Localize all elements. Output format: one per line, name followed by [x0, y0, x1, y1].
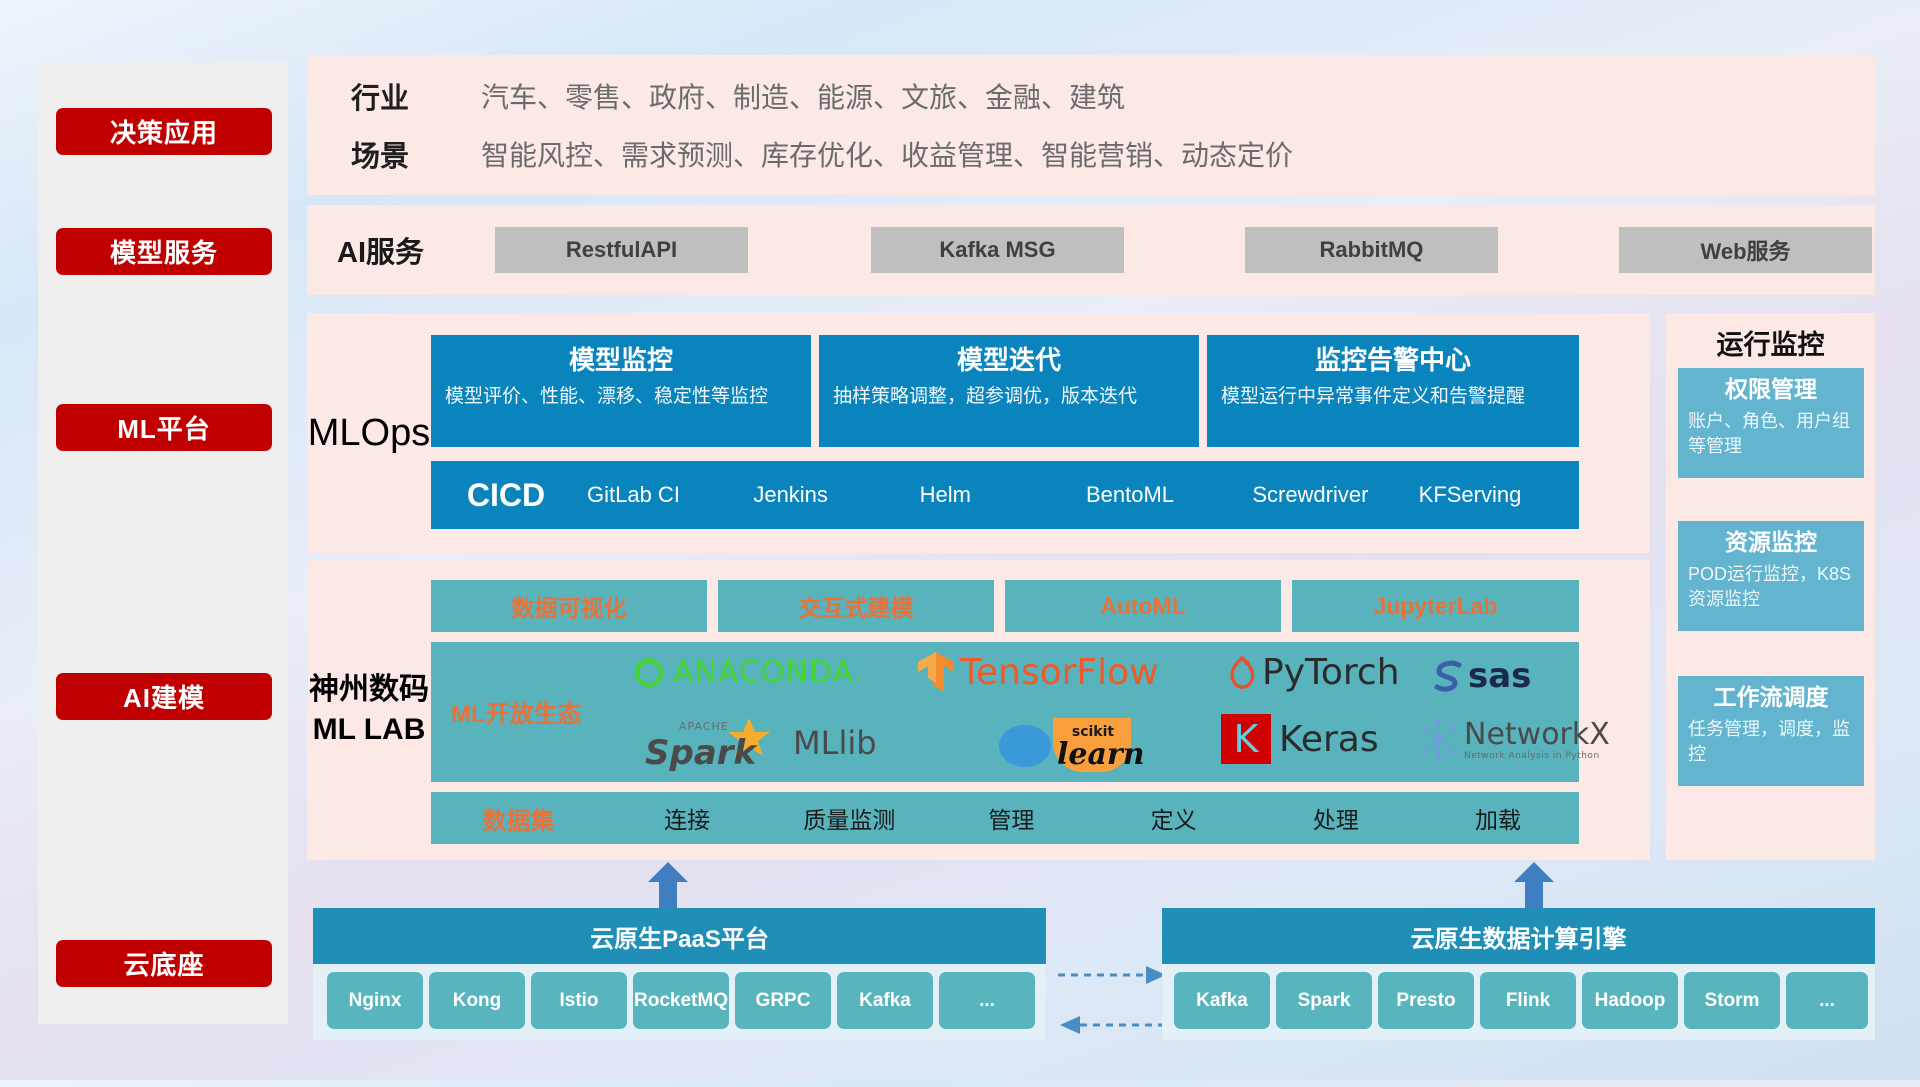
engine-chip-kafka[interactable]: Kafka	[1174, 972, 1270, 1029]
cicd-item-kfserving[interactable]: KFServing	[1413, 480, 1579, 510]
monitor-card-title: 权限管理	[1688, 374, 1854, 405]
networkx-wordmark: NetworkX	[1464, 719, 1610, 751]
cicd-item-bentoml[interactable]: BentoML	[1080, 480, 1246, 510]
ecosystem-title: ML开放生态	[451, 694, 582, 729]
application-row-key: 行业	[351, 75, 481, 117]
tensorflow-mark	[916, 650, 956, 694]
rail-item-model-service[interactable]: 模型服务	[56, 228, 272, 275]
engine-chip-spark[interactable]: Spark	[1276, 972, 1372, 1029]
ai-service-label: AI服务	[337, 205, 424, 295]
spacer	[1060, 1084, 1061, 1085]
rail-label: ML平台	[117, 409, 211, 446]
cicd-item-gitlab-ci[interactable]: GitLab CI	[581, 480, 747, 510]
pytorch-logo: PyTorch	[1226, 652, 1400, 693]
networkx-mark	[1416, 718, 1460, 762]
diagram-canvas: 决策应用 模型服务 ML平台 AI建模 云底座 行业 汽车、零售、政府、制造、能…	[0, 0, 1920, 1080]
rail-item-decision-application[interactable]: 决策应用	[56, 108, 272, 155]
cicd-item-jenkins[interactable]: Jenkins	[747, 480, 913, 510]
monitor-card-desc: POD运行监控，K8S资源监控	[1688, 562, 1854, 612]
monitor-card-desc: 账户、角色、用户组等管理	[1688, 409, 1854, 459]
mlops-card-desc: 模型评价、性能、漂移、稳定性等监控	[445, 383, 797, 410]
keras-wordmark: Keras	[1279, 719, 1379, 760]
tool-chip-automl[interactable]: AutoML	[1005, 580, 1281, 632]
engine-chip-presto[interactable]: Presto	[1378, 972, 1474, 1029]
ml-lab-label-line1: 神州数码	[309, 670, 429, 710]
mlops-card-model-iteration[interactable]: 模型迭代 抽样策略调整，超参调优，版本迭代	[819, 335, 1199, 447]
sas-wordmark: sas	[1468, 656, 1531, 696]
application-row-industry: 行业 汽车、零售、政府、制造、能源、文旅、金融、建筑	[351, 75, 1125, 117]
application-row-value: 智能风控、需求预测、库存优化、收益管理、智能营销、动态定价	[481, 134, 1293, 174]
tool-chip-interactive-modeling[interactable]: 交互式建模	[718, 580, 994, 632]
keras-logo: K Keras	[1221, 714, 1379, 764]
arrow-right-icon	[1058, 960, 1168, 990]
monitor-card-resource[interactable]: 资源监控 POD运行监控，K8S资源监控	[1678, 521, 1864, 631]
runtime-monitor-panel: 运行监控 权限管理 账户、角色、用户组等管理 资源监控 POD运行监控，K8S资…	[1666, 313, 1875, 860]
sas-logo: sas	[1431, 656, 1531, 696]
application-row-value: 汽车、零售、政府、制造、能源、文旅、金融、建筑	[481, 76, 1125, 116]
dataset-label: 数据集	[431, 801, 606, 836]
monitor-card-desc: 任务管理，调度，监控	[1688, 717, 1854, 767]
paas-chip-kafka[interactable]: Kafka	[837, 972, 933, 1029]
anaconda-logo: ANACONDA.	[631, 654, 864, 690]
application-band: 行业 汽车、零售、政府、制造、能源、文旅、金融、建筑 场景 智能风控、需求预测、…	[307, 55, 1875, 195]
tool-chip-jupyterlab[interactable]: JupyterLab	[1292, 580, 1579, 632]
ai-service-chip-kafka-msg[interactable]: Kafka MSG	[871, 227, 1124, 273]
ml-lab-label: 神州数码 ML LAB	[307, 560, 431, 860]
sas-mark	[1431, 659, 1467, 693]
rail-label: 模型服务	[110, 233, 218, 270]
rail-item-ai-modeling[interactable]: AI建模	[56, 673, 272, 720]
tensorflow-wordmark: TensorFlow	[960, 652, 1159, 693]
svg-text:APACHE: APACHE	[679, 720, 729, 733]
mlops-card-desc: 抽样策略调整，超参调优，版本迭代	[833, 383, 1185, 410]
scikit-learn-logo: scikit learn	[997, 710, 1157, 772]
rail-label: 云底座	[123, 945, 204, 982]
dataset-item-load[interactable]: 加载	[1417, 801, 1579, 835]
arrow-left-icon	[1058, 1010, 1168, 1040]
mlops-card-title: 监控告警中心	[1221, 343, 1565, 377]
anaconda-wordmark: ANACONDA.	[673, 655, 864, 690]
tensorflow-logo: TensorFlow	[916, 650, 1159, 694]
cicd-label: CICD	[431, 477, 581, 514]
engine-chip-hadoop[interactable]: Hadoop	[1582, 972, 1678, 1029]
dataset-strip: 数据集 连接 质量监测 管理 定义 处理 加载	[431, 792, 1579, 844]
mllib-wordmark: MLlib	[793, 724, 877, 762]
spark-mllib-logo: APACHE Spark MLlib	[641, 714, 877, 772]
dataset-item-manage[interactable]: 管理	[930, 801, 1092, 835]
ai-service-band: AI服务 RestfulAPI Kafka MSG RabbitMQ Web服务	[307, 205, 1875, 295]
ml-lab-label-line2: ML LAB	[309, 710, 429, 750]
paas-chip-nginx[interactable]: Nginx	[327, 972, 423, 1029]
networkx-tagline: Network Analysis in Python	[1464, 751, 1610, 761]
arrow-up-data-engine-icon	[1512, 862, 1556, 910]
paas-platform-header: 云原生PaaS平台	[313, 908, 1046, 964]
ai-service-chip-rabbitmq[interactable]: RabbitMQ	[1245, 227, 1498, 273]
rail-item-cloud-base[interactable]: 云底座	[56, 940, 272, 987]
mlops-card-title: 模型监控	[445, 343, 797, 377]
dataset-item-process[interactable]: 处理	[1255, 801, 1417, 835]
tool-chip-data-visualization[interactable]: 数据可视化	[431, 580, 707, 632]
cicd-strip: CICD GitLab CI Jenkins Helm BentoML Scre…	[431, 461, 1579, 529]
cicd-item-screwdriver[interactable]: Screwdriver	[1246, 480, 1412, 510]
paas-chip-rocketmq[interactable]: RocketMQ	[633, 972, 729, 1029]
rail-item-ml-platform[interactable]: ML平台	[56, 404, 272, 451]
dataset-item-define[interactable]: 定义	[1093, 801, 1255, 835]
mlops-card-title: 模型迭代	[833, 343, 1185, 377]
networkx-logo: NetworkX Network Analysis in Python	[1416, 718, 1610, 762]
paas-chip-istio[interactable]: Istio	[531, 972, 627, 1029]
mlops-card-alert-center[interactable]: 监控告警中心 模型运行中异常事件定义和告警提醒	[1207, 335, 1579, 447]
engine-chip-flink[interactable]: Flink	[1480, 972, 1576, 1029]
monitor-card-workflow[interactable]: 工作流调度 任务管理，调度，监控	[1678, 676, 1864, 786]
rail-label: 决策应用	[110, 113, 218, 150]
data-engine-header: 云原生数据计算引擎	[1162, 908, 1875, 964]
svg-text:learn: learn	[1057, 737, 1145, 772]
engine-chip-storm[interactable]: Storm	[1684, 972, 1780, 1029]
runtime-monitor-title: 运行监控	[1666, 323, 1875, 362]
monitor-card-title: 工作流调度	[1688, 682, 1854, 713]
application-row-scenario: 场景 智能风控、需求预测、库存优化、收益管理、智能营销、动态定价	[351, 133, 1293, 175]
ai-service-chip-web-service[interactable]: Web服务	[1619, 227, 1872, 273]
paas-chip-grpc[interactable]: GRPC	[735, 972, 831, 1029]
keras-mark: K	[1221, 714, 1271, 764]
engine-chip-more[interactable]: ...	[1786, 972, 1868, 1029]
keras-k: K	[1234, 717, 1259, 761]
monitor-card-title: 资源监控	[1688, 527, 1854, 558]
paas-chip-more[interactable]: ...	[939, 972, 1035, 1029]
spark-mark: APACHE Spark	[641, 714, 791, 772]
dataset-item-quality[interactable]: 质量监测	[768, 801, 930, 835]
mlops-label: MLOps	[307, 313, 431, 553]
mlops-band: MLOps 模型监控 模型评价、性能、漂移、稳定性等监控 模型迭代 抽样策略调整…	[307, 313, 1650, 553]
ai-modeling-band: 神州数码 ML LAB 数据可视化 交互式建模 AutoML JupyterLa…	[307, 560, 1650, 860]
pytorch-mark	[1226, 654, 1258, 692]
paas-chip-kong[interactable]: Kong	[429, 972, 525, 1029]
arrow-up-paas-icon	[646, 862, 690, 910]
scikit-mark: scikit learn	[997, 710, 1157, 772]
rail-label: AI建模	[123, 678, 205, 715]
ai-service-chip-restfulapi[interactable]: RestfulAPI	[495, 227, 748, 273]
ecosystem-panel: ML开放生态 ANACONDA. TensorFlow	[431, 642, 1579, 782]
dataset-item-connect[interactable]: 连接	[606, 801, 768, 835]
anaconda-mark	[631, 654, 667, 690]
monitor-card-permission[interactable]: 权限管理 账户、角色、用户组等管理	[1678, 368, 1864, 478]
mlops-card-model-monitoring[interactable]: 模型监控 模型评价、性能、漂移、稳定性等监控	[431, 335, 811, 447]
application-row-key: 场景	[351, 133, 481, 175]
svg-text:Spark: Spark	[645, 733, 759, 772]
cicd-item-helm[interactable]: Helm	[914, 480, 1080, 510]
mlops-card-desc: 模型运行中异常事件定义和告警提醒	[1221, 383, 1565, 410]
pytorch-wordmark: PyTorch	[1262, 652, 1400, 693]
layer-rail: 决策应用 模型服务 ML平台 AI建模 云底座	[38, 62, 288, 1024]
